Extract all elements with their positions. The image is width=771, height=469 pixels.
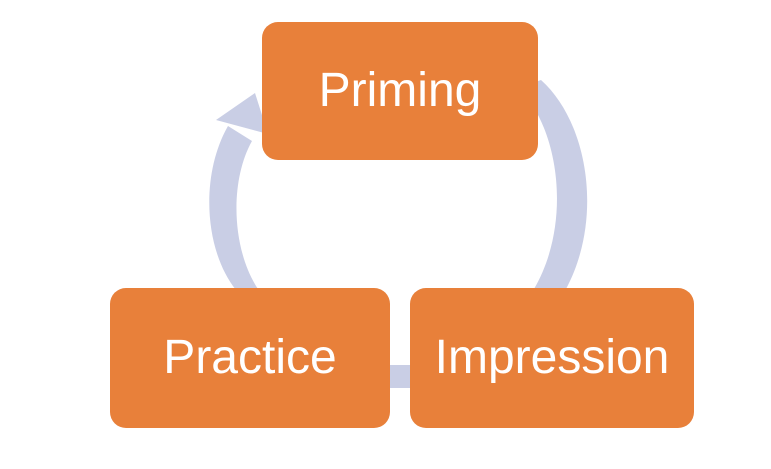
node-practice-label: Practice xyxy=(163,334,336,382)
node-impression[interactable]: Impression xyxy=(410,288,694,428)
arrow-practice-to-priming xyxy=(209,93,268,290)
node-practice[interactable]: Practice xyxy=(110,288,390,428)
diagram-canvas: Priming Practice Impression xyxy=(0,0,771,469)
node-priming-label: Priming xyxy=(319,67,482,115)
connector-impression-to-practice xyxy=(390,365,411,388)
node-priming[interactable]: Priming xyxy=(262,22,538,160)
node-impression-label: Impression xyxy=(435,334,670,382)
